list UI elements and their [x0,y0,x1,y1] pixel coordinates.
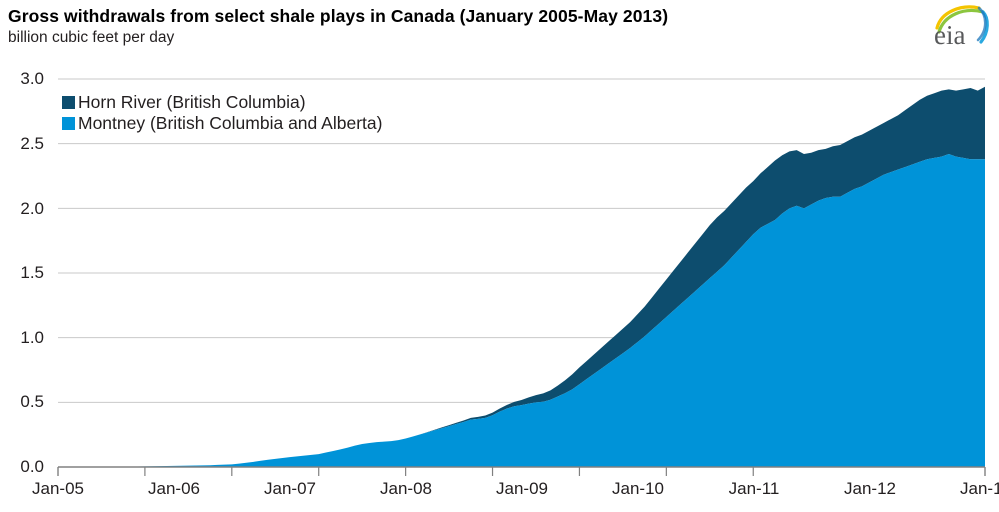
chart-canvas [0,0,999,512]
legend-label-montney: Montney (British Columbia and Alberta) [78,114,382,133]
x-tick-marks [145,467,753,476]
plot-area: 3.0 2.5 2.0 1.5 1.0 0.5 0.0 Jan-05 Jan-0… [0,0,999,512]
chart-page: Gross withdrawals from select shale play… [0,0,999,512]
legend: Horn River (British Columbia) Montney (B… [62,92,382,134]
axis-group [58,467,985,476]
legend-swatch-montney [62,117,75,130]
legend-label-horn-river: Horn River (British Columbia) [78,93,306,112]
legend-swatch-horn-river [62,96,75,109]
legend-item-horn-river[interactable]: Horn River (British Columbia) [62,92,382,113]
legend-item-montney[interactable]: Montney (British Columbia and Alberta) [62,113,382,134]
area-montney [58,154,985,467]
